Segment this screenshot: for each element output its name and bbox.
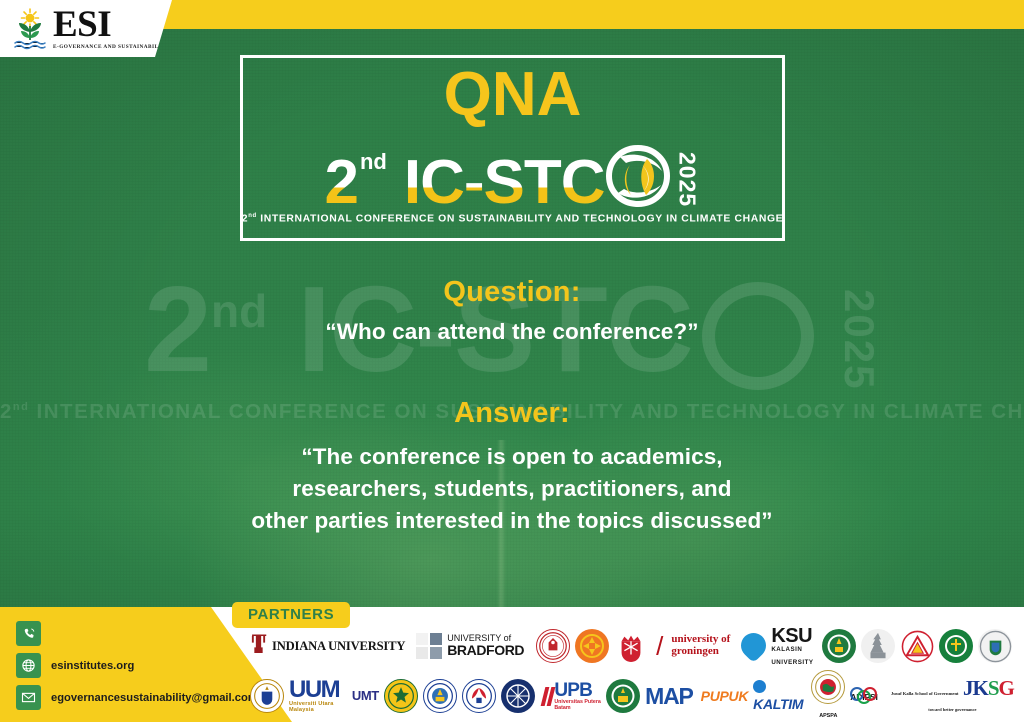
partner-university-of-groningen: university of groningen — [671, 634, 730, 657]
logo-title-row: 2 nd IC-STC 2025 — [324, 145, 700, 209]
conference-logo-lockup: QNA 2 nd IC-STC 2025 2nd INTER — [240, 55, 785, 241]
contact-email-text: egovernancesustainability@gmail.com — [51, 692, 258, 704]
seal-red-university — [536, 629, 570, 663]
sun-plant-water-icon — [10, 7, 50, 51]
umt-acronym: UMT — [352, 688, 379, 703]
partner-logos: INDIANA UNIVERSITY UNIVERSITY of BRADFOR… — [250, 622, 1020, 720]
uum-sub: Universiti Utara Malaysia — [289, 702, 344, 713]
answer-label: Answer: — [0, 397, 1024, 430]
upb-text: UPB Universitas Putera Batam — [554, 681, 601, 711]
partner-row-2: UUM Universiti Utara Malaysia UMT — [250, 672, 1020, 720]
upb-bars-icon — [540, 687, 554, 706]
contact-website-text: esinstitutes.org — [51, 660, 134, 672]
apspa-seal-icon — [811, 670, 845, 704]
kaltim-block: KALTIM — [753, 678, 803, 714]
iu-name: INDIANA UNIVERSITY — [272, 639, 405, 654]
qna-heading: QNA — [444, 64, 582, 126]
seal-red-triangle — [900, 629, 934, 663]
ksu-acronym: KSU — [771, 625, 812, 647]
bradford-line2: BRADFORD — [447, 643, 524, 658]
poster-canvas: 2 nd IC-STC 2025 2nd INTERNATIONAL CONFE… — [0, 0, 1024, 722]
answer-text: “The conference is open to academics, re… — [0, 441, 1024, 537]
jksg-bottom-text: toward better governance — [928, 707, 976, 712]
bradford-grid-icon — [416, 633, 442, 659]
globe-icon — [16, 653, 41, 678]
iu-trident-icon — [250, 634, 267, 659]
partner-university-of-bradford: UNIVERSITY of BRADFORD — [416, 633, 524, 659]
partner-umt: UMT — [352, 688, 379, 704]
seal-uum-blue — [250, 679, 284, 713]
ksu-text: KSU KALASIN UNIVERSITY — [771, 626, 813, 667]
seal-green-unand — [606, 679, 640, 713]
ksu-sub: KALASIN UNIVERSITY — [771, 647, 813, 667]
seal-red-crest — [614, 629, 648, 663]
question-text: “Who can attend the conference?” — [0, 319, 1024, 345]
partner-kaltim: KALTIM — [753, 696, 803, 712]
answer-line-3: other parties interested in the topics d… — [0, 505, 1024, 537]
seal-orange-sun — [575, 629, 609, 663]
seal-green-gold — [822, 629, 856, 663]
partner-map: MAP — [645, 683, 693, 710]
partner-apspa: APSPA — [811, 670, 845, 722]
seal-grey-crest — [978, 629, 1012, 663]
logo-acronym: IC-STC — [404, 158, 605, 209]
groningen-slash-icon: / — [656, 631, 663, 662]
bradford-name: UNIVERSITY of BRADFORD — [447, 634, 524, 658]
logo-ordinal-suffix: nd — [360, 149, 387, 175]
logo-inner: QNA 2 nd IC-STC 2025 2nd INTER — [249, 64, 776, 232]
seal-umsu-yellow — [384, 679, 418, 713]
partner-pupuk: PUPUK — [701, 688, 749, 704]
partner-upb: UPB Universitas Putera Batam — [543, 681, 601, 711]
seal-garuda-red — [462, 679, 496, 713]
seal-unsrat-blue — [423, 679, 457, 713]
leaf-globe-icon — [606, 145, 670, 207]
partner-kalasin-university: KSU KALASIN UNIVERSITY — [741, 626, 813, 667]
question-label: Question: — [0, 276, 1024, 309]
groningen-line2: groningen — [671, 646, 730, 658]
partner-jksg: Jusuf Kalla School of Government JKSG to… — [885, 678, 1020, 715]
partner-adipsi: ADIPSI — [850, 688, 877, 704]
groningen-line1: university of — [671, 633, 730, 645]
esi-logo-plate: ESI E-GOVERNANCE AND SUSTAINABILITY INST… — [0, 0, 172, 57]
logo-year: 2025 — [674, 152, 701, 207]
seal-green-ring — [939, 629, 973, 663]
ksu-droplet-icon — [736, 628, 771, 663]
answer-line-1: “The conference is open to academics, — [0, 441, 1024, 473]
email-icon — [16, 685, 41, 710]
seal-grey-temple — [861, 629, 895, 663]
answer-line-2: researchers, students, practitioners, an… — [0, 473, 1024, 505]
phone-icon — [16, 621, 41, 646]
jksg-top-text: Jusuf Kalla School of Government — [891, 691, 959, 696]
partner-indiana-university: INDIANA UNIVERSITY — [250, 634, 405, 659]
partner-uum: UUM Universiti Utara Malaysia — [289, 678, 344, 713]
apspa-label: APSPA — [819, 713, 837, 719]
logo-ordinal: 2 — [324, 158, 358, 209]
qa-section: Question: “Who can attend the conference… — [0, 276, 1024, 537]
upb-acronym: UPB — [554, 680, 592, 701]
uum-acronym: UUM — [289, 676, 339, 703]
seal-navy-wheel — [501, 679, 535, 713]
jksg-acronym: JKSG — [963, 676, 1014, 700]
partner-row-1: INDIANA UNIVERSITY UNIVERSITY of BRADFOR… — [250, 622, 1020, 670]
upb-sub: Universitas Putera Batam — [554, 700, 601, 711]
kaltim-dot-icon — [753, 680, 766, 693]
